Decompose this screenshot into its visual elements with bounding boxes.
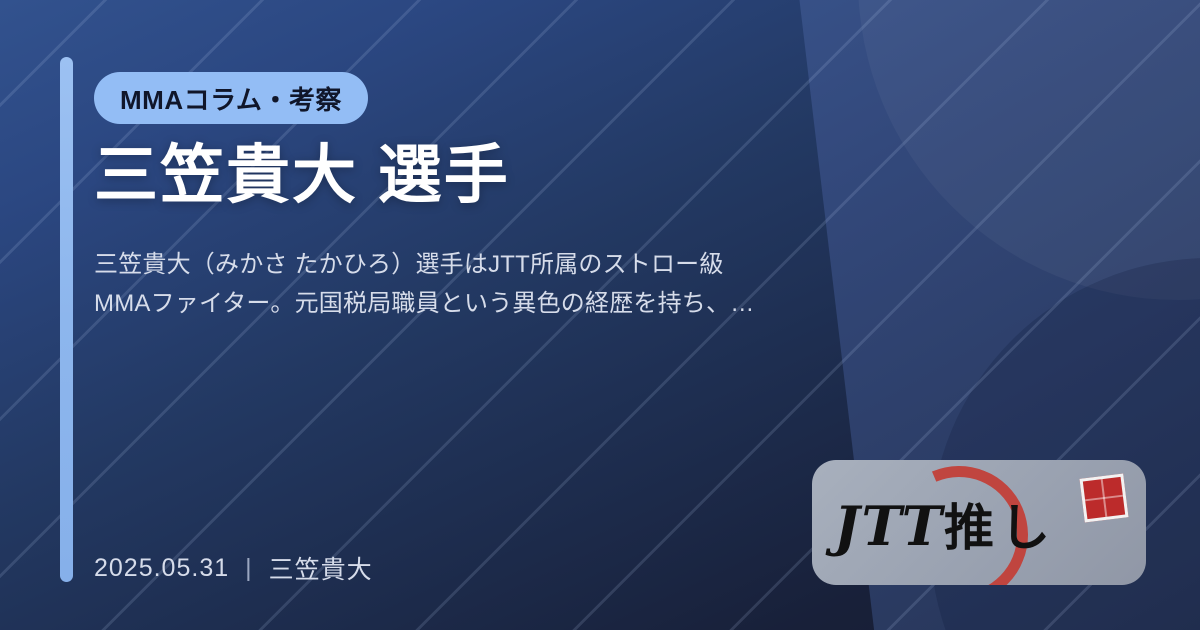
footer-meta: 2025.05.31 | 三笠貴大 (94, 550, 373, 586)
card-content: MMAコラム・考察 三笠貴大 選手 三笠貴大（みかさ たかひろ）選手はJTT所属… (94, 0, 794, 630)
ogp-card: MMAコラム・考察 三笠貴大 選手 三笠貴大（みかさ たかひろ）選手はJTT所属… (0, 0, 1200, 630)
logo-mark-text: JTT (834, 494, 944, 558)
page-description: 三笠貴大（みかさ たかひろ）選手はJTT所属のストロー級MMAファイター。元国税… (94, 246, 774, 324)
publish-date: 2025.05.31 (94, 554, 229, 583)
logo-inner: JTT推し (812, 460, 1146, 585)
site-logo[interactable]: JTT推し (812, 460, 1146, 585)
logo-suffix-text: 推し (944, 499, 1056, 557)
red-square-stamp-icon (1079, 473, 1128, 522)
author-name: 三笠貴大 (269, 550, 373, 586)
meta-separator: | (245, 554, 253, 583)
left-accent-bar (60, 57, 73, 582)
logo-wordmark: JTT推し (834, 488, 1056, 560)
category-badge[interactable]: MMAコラム・考察 (94, 72, 368, 124)
page-title: 三笠貴大 選手 (94, 140, 510, 210)
